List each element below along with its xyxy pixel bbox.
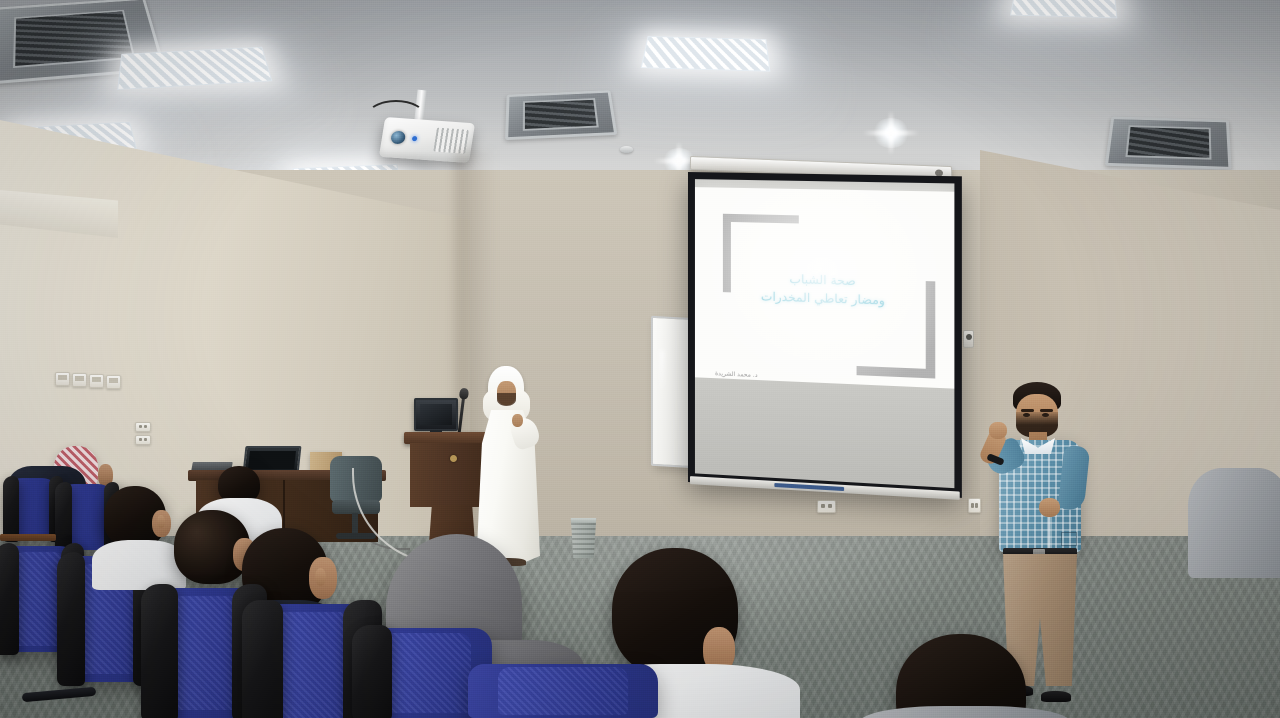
podium-speaker [472,366,542,562]
speaker-hand [512,414,523,427]
presenter-lower-arm [1058,445,1091,511]
seat-side-panel [3,476,19,542]
seat-side-panel [352,625,392,718]
presenter-pointing-hand [989,422,1007,439]
attendee-torso [1188,468,1280,578]
attendee-head [612,548,738,676]
presenter-resting-hand [1039,498,1060,517]
attendee-head [174,510,250,584]
projection-screen: صحة الشباب ومضار تعاطي المخدرات د. محمد … [688,172,962,498]
seat-cushion [271,612,353,718]
ceiling-downlight [872,118,910,148]
projector-led-icon [412,136,418,141]
ac-grille [13,10,136,69]
ceiling-light-panel [1010,0,1117,18]
seat-side-panel [57,552,85,686]
ac-grille [523,98,598,130]
smoke-detector-icon [620,146,633,153]
seat-side-panel [0,543,19,655]
ac-vent-far-right [1105,116,1232,169]
speaker-beard [497,393,516,406]
office-chair-post [352,513,358,535]
attendee-head [104,486,166,548]
light-switch-plate[interactable] [89,374,104,388]
trash-bin-mesh [571,523,596,555]
light-switch-plate[interactable] [55,372,70,386]
office-chair-base [336,533,376,539]
screen-blank-area [695,377,954,488]
attendee-torso [92,540,186,590]
seat-cushion [167,596,240,710]
ac-grille [1126,125,1212,159]
seat-cushion [498,667,627,715]
podium-monitor [414,398,458,431]
auditorium-seat[interactable] [468,664,658,718]
presentation-slide: صحة الشباب ومضار تعاطي المخدرات د. محمد … [695,187,954,402]
ac-vent-right [505,90,617,140]
light-switch-plate[interactable] [72,373,87,387]
projection-screen-surface: صحة الشباب ومضار تعاطي المخدرات د. محمد … [695,179,954,488]
wall-outlet[interactable] [135,435,151,445]
projector-lens-icon [390,131,406,145]
seat-side-panel [55,482,72,552]
seat-writing-tablet [0,534,56,541]
whiteboard-glare [660,350,663,391]
seat-cushion [381,633,471,712]
wall-speaker-icon [963,330,974,348]
presenter-shoe-right [1041,691,1071,702]
seat-side-panel [141,584,178,718]
ceiling-light-panel [641,36,771,72]
wall-outlet[interactable] [135,422,151,432]
presenter-shirt-pocket [1061,532,1077,546]
slide-title: صحة الشباب ومضار تعاطي المخدرات [695,268,954,312]
attendee-ear [157,515,165,529]
auditorium-seat[interactable] [6,478,60,540]
wall-outlet[interactable] [817,500,836,513]
seat-side-panel [242,600,283,718]
wall-outlet[interactable] [968,498,981,513]
lecture-hall-photo: صحة الشباب ومضار تعاطي المخدرات د. محمد … [0,0,1280,718]
light-switch-plate[interactable] [106,375,121,389]
